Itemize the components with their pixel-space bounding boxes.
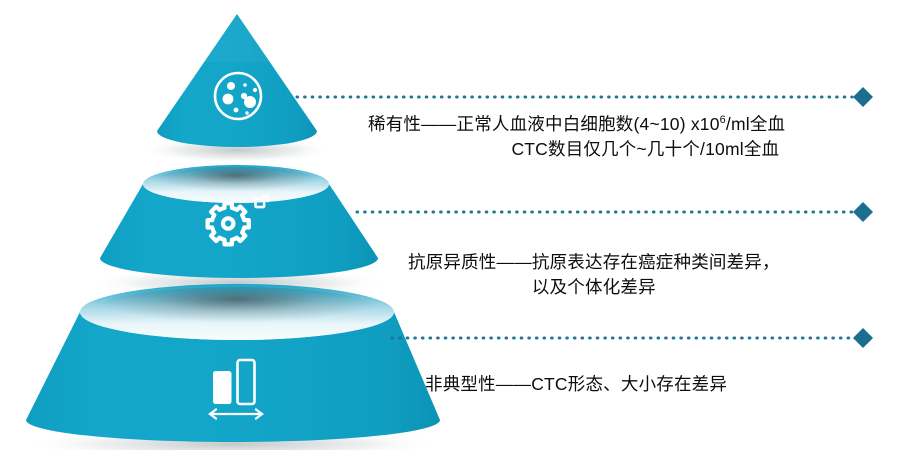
callout-text-tier-3: 非典型性——CTC形态、大小存在差异 (425, 372, 727, 397)
pyramid-tier-1[interactable] (157, 14, 317, 147)
diagram-canvas: 稀有性——正常人血液中白细胞数(4~10) x106/ml全血 CTC数目仅几个… (0, 0, 900, 450)
callout-text-tier-1: 稀有性——正常人血液中白细胞数(4~10) x106/ml全血 CTC数目仅几个… (368, 112, 785, 162)
marker-diamond-3[interactable] (853, 328, 873, 348)
callout-1-line-2: CTC数目仅几个~几十个/10ml全血 (368, 137, 779, 162)
callout-1-line-1-part2: /ml全血 (726, 114, 785, 134)
pyramid-tier-2[interactable] (100, 165, 378, 278)
callout-2-line-1: 抗原异质性——抗原表达存在癌症种类间差异， (408, 250, 780, 275)
callout-text-tier-2: 抗原异质性——抗原表达存在癌症种类间差异， 以及个体化差异 (408, 250, 780, 300)
callout-3-line-1: 非典型性——CTC形态、大小存在差异 (425, 372, 727, 397)
marker-diamond-2[interactable] (853, 202, 873, 222)
marker-diamond-1[interactable] (853, 87, 873, 107)
callout-2-line-2: 以及个体化差异 (408, 275, 780, 300)
pyramid-tier-3[interactable] (26, 284, 440, 442)
callout-1-line-1-part1: 稀有性——正常人血液中白细胞数(4~10) x10 (368, 114, 720, 134)
callout-1-line-1: 稀有性——正常人血液中白细胞数(4~10) x106/ml全血 (368, 112, 785, 137)
